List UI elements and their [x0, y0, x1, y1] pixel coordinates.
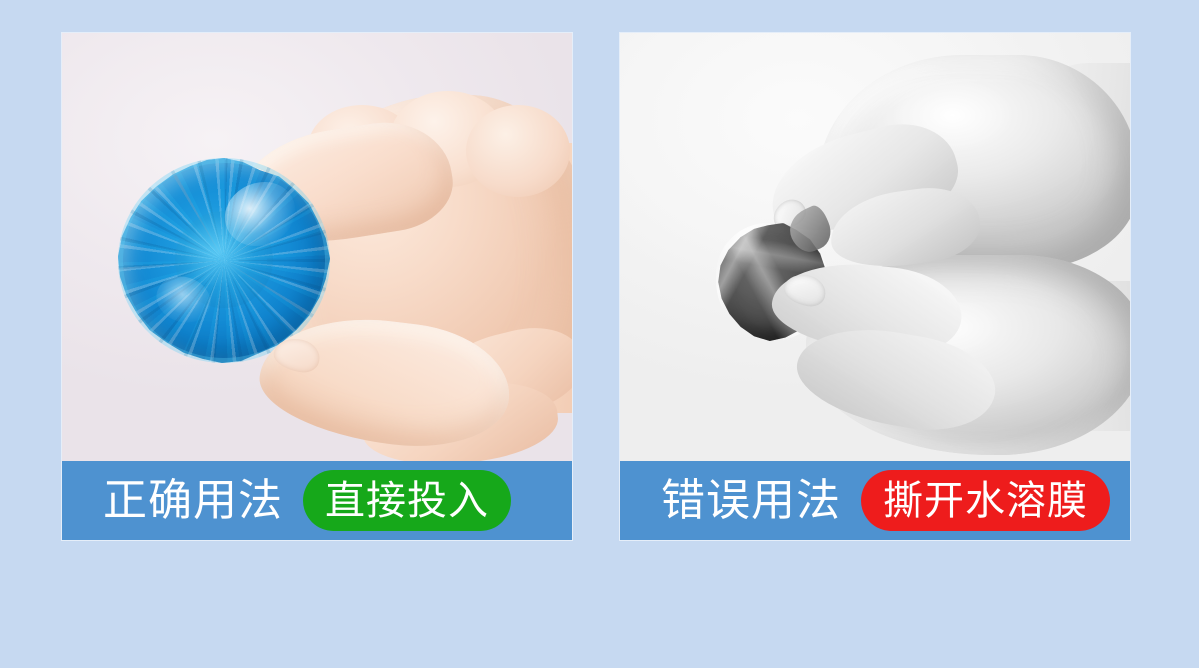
badge-label-wrong-action: 撕开水溶膜 [883, 481, 1088, 521]
badge-correct-action: 直接投入 [303, 470, 511, 531]
product-usage-comparison-page: 正确用法 直接投入 [0, 0, 1199, 668]
photo-scene-wrong [620, 33, 1130, 461]
badge-wrong-action: 撕开水溶膜 [861, 470, 1110, 531]
caption-bar-correct: 正确用法 直接投入 [62, 461, 572, 540]
panel-wrong-usage: 错误用法 撕开水溶膜 [620, 33, 1130, 540]
photo-scene-correct [62, 33, 572, 461]
caption-label-correct: 正确用法 [103, 479, 283, 523]
knuckle-shape [466, 105, 570, 197]
badge-label-correct-action: 直接投入 [325, 481, 489, 521]
hands-tearing-water-soluble-film-photo [620, 33, 1130, 461]
panel-correct-usage: 正确用法 直接投入 [62, 33, 572, 540]
hand-holding-blue-toilet-block-photo [62, 33, 572, 461]
caption-label-wrong: 错误用法 [661, 479, 841, 523]
caption-bar-wrong: 错误用法 撕开水溶膜 [620, 461, 1130, 540]
